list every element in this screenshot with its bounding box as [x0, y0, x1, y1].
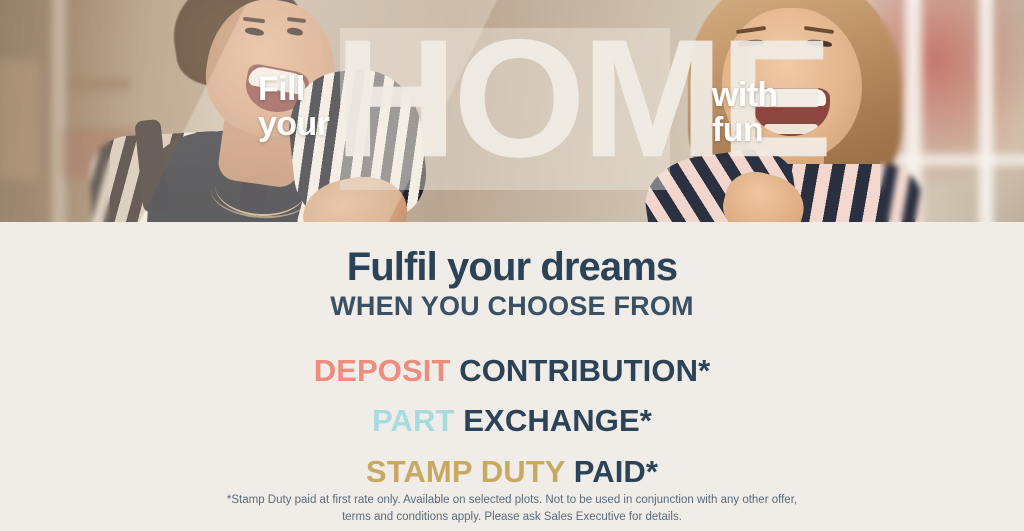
- offer-highlight: STAMP DUTY: [366, 454, 565, 489]
- offer-highlight: PART: [372, 403, 455, 438]
- girl-teeth: [764, 124, 818, 134]
- offer-label: PAID*: [565, 454, 658, 489]
- offer-line: STAMP DUTY PAID*: [0, 447, 1024, 497]
- legal-disclaimer: *Stamp Duty paid at first rate only. Ava…: [0, 492, 1024, 525]
- mother-figure: [95, 0, 435, 222]
- offer-line: DEPOSIT CONTRIBUTION*: [0, 346, 1024, 396]
- message-panel: Fulfil your dreams WHEN YOU CHOOSE FROM …: [0, 222, 1024, 531]
- legal-line-1: *Stamp Duty paid at first rate only. Ava…: [206, 492, 818, 509]
- depth-blur-left: [0, 0, 110, 222]
- girl-teeth: [756, 89, 826, 106]
- legal-line-2: terms and conditions apply. Please ask S…: [206, 509, 818, 526]
- offers-list: DEPOSIT CONTRIBUTION*PART EXCHANGE*STAMP…: [0, 346, 1024, 497]
- offer-label: CONTRIBUTION*: [451, 353, 711, 388]
- offer-highlight: DEPOSIT: [314, 353, 451, 388]
- offer-label: EXCHANGE*: [455, 403, 652, 438]
- subheading: WHEN YOU CHOOSE FROM: [0, 292, 1024, 322]
- page-title: Fulfil your dreams: [0, 222, 1024, 288]
- offer-line: PART EXCHANGE*: [0, 396, 1024, 446]
- promotional-banner: HOME Fill your with fun Fulfil your drea…: [0, 0, 1024, 531]
- hero-image: HOME Fill your with fun: [0, 0, 1024, 222]
- depth-blur-right: [880, 0, 1024, 222]
